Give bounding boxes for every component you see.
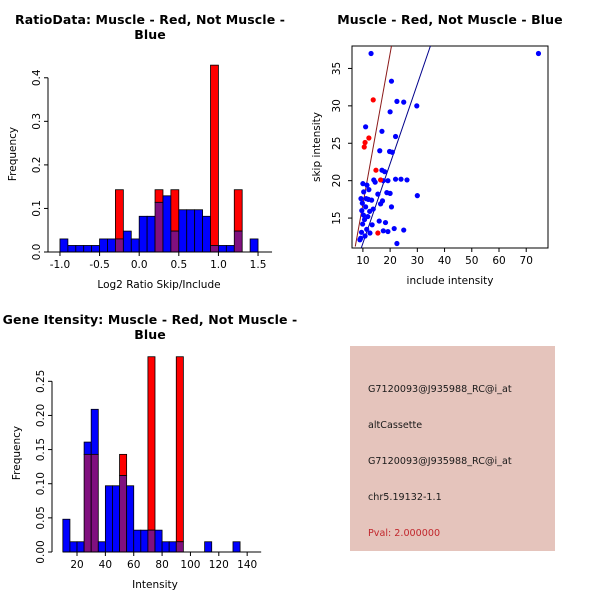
histogram-bar [108,239,116,252]
histogram-bar [112,486,119,552]
scatter-point [375,192,380,197]
ratio-panel-title: RatioData: Muscle - Red, Not Muscle - Bl… [0,12,300,42]
y-tick-label: 20 [331,174,343,187]
scatter-point [394,99,399,104]
y-tick-label: 30 [331,99,343,112]
histogram-bar [120,476,127,552]
histogram-bar [171,190,179,231]
histogram-bar [163,196,171,252]
x-tick-label: 120 [209,559,229,571]
scatter-point [379,129,384,134]
x-tick-label: 10 [356,255,369,267]
x-tick-label: 0.0 [131,259,148,271]
scatter-point [362,217,367,222]
scatter-point [368,51,373,56]
gene-panel-title: Gene Itensity: Muscle - Red, Not Muscle … [0,312,300,342]
scatter-plot: 102030405060701520253035include intensit… [300,0,600,300]
y-tick-label: 25 [331,137,343,150]
x-tick-label: 40 [99,559,112,571]
fit-line-muscle-fit [355,46,391,247]
histogram-bar [148,530,155,552]
histogram-bar [141,530,148,552]
scatter-point [362,140,367,145]
y-tick-label: 35 [331,62,343,75]
y-tick-label: 15 [331,211,343,224]
scatter-point [392,226,397,231]
y-tick-label: 0.1 [31,200,43,217]
x-tick-label: 30 [411,255,424,267]
scatter-point [401,227,406,232]
histogram-bar [131,239,139,252]
y-tick-label: 0.10 [35,472,47,495]
x-tick-label: 80 [155,559,168,571]
scatter-point [377,148,382,153]
scatter-point [371,206,376,211]
scatter-point [388,191,393,196]
x-tick-label: 60 [127,559,140,571]
x-tick-label: -1.0 [50,259,71,271]
probe-id-secondary: G7120093@J935988_RC@i_at [368,456,512,467]
histogram-bar [218,245,226,252]
y-tick-label: 0.05 [35,506,47,529]
scatter-point [381,228,386,233]
x-tick-label: 40 [438,255,451,267]
x-tick-label: 50 [465,255,478,267]
x-tick-label: 140 [237,559,257,571]
fit-line-not-muscle-fit [361,46,430,248]
scatter-point [378,177,383,182]
histogram-bar [139,216,147,252]
histogram-bar [91,409,98,454]
x-tick-label: 100 [180,559,200,571]
scatter-point [390,150,395,155]
y-tick-label: 0.00 [35,540,47,563]
histogram-bar [226,245,234,252]
histogram-bar [155,530,162,552]
histogram-bar [91,454,98,552]
scatter-point [388,109,393,114]
probe-id-primary: G7120093@J935988_RC@i_at [368,384,512,395]
histogram-bar [68,245,76,252]
scatter-point [367,230,372,235]
histogram-bar [155,202,163,252]
y-axis-title: Frequency [7,127,19,181]
scatter-point [401,100,406,105]
histogram-bar [205,542,212,552]
histogram-bar [211,65,219,245]
y-tick-label: 0.3 [31,113,43,130]
histogram-bar [115,190,123,239]
x-tick-label: 20 [70,559,83,571]
histogram-bar [84,442,91,454]
scatter-point [398,177,403,182]
panel-ratio-histogram: RatioData: Muscle - Red, Not Muscle - Bl… [0,0,300,300]
histogram-bars [60,65,258,252]
histogram-bar [162,542,169,552]
scatter-point [389,79,394,84]
histogram-bar [176,357,183,542]
y-tick-label: 0.15 [35,438,47,461]
scatter-point [366,135,371,140]
histogram-bar [63,519,70,552]
scatter-point [357,237,362,242]
histogram-bar [155,190,163,203]
x-tick-label: 60 [492,255,505,267]
pvalue: Pval: 2.000000 [368,528,440,539]
histogram-bar [176,542,183,552]
histogram-bar [250,239,258,252]
histogram-bar [211,245,219,252]
scatter-panel-title: Muscle - Red, Not Muscle - Blue [300,12,600,27]
histogram-bar [115,239,123,252]
y-tick-label: 0.20 [35,404,47,427]
x-tick-label: 1.0 [210,259,227,271]
histogram-bar [187,210,195,252]
scatter-point [358,196,363,201]
histogram-bar [84,245,92,252]
x-axis-title: Intensity [132,579,178,591]
scatter-point [361,189,366,194]
scatter-point [414,103,419,108]
scatter-point [369,198,374,203]
y-axis-title: skip intensity [311,112,323,182]
scatter-point [370,222,375,227]
histogram-bar [169,542,176,552]
scatter-point [536,51,541,56]
genomic-location: chr5.19132-1.1 [368,492,442,503]
scatter-point [363,204,368,209]
gene-histogram-plot: 204060801001201400.000.050.100.150.200.2… [0,300,300,600]
histogram-bar [98,542,105,552]
scatter-point [375,230,380,235]
scatter-point [359,208,364,213]
scatter-point [371,177,376,182]
scatter-point [393,134,398,139]
y-axis-title: Frequency [11,426,23,480]
scatter-point [394,241,399,246]
x-tick-label: -0.5 [89,259,110,271]
histogram-bar [105,486,112,552]
panel-intensity-scatter: Muscle - Red, Not Muscle - Blue 10203040… [300,0,600,300]
probe-info-box: G7120093@J935988_RC@i_ataltCassetteG7120… [350,346,555,551]
scatter-point [362,144,367,149]
scatter-point [371,97,376,102]
histogram-bar [123,231,131,252]
plot-frame [352,46,548,248]
panel-gene-intensity-histogram: Gene Itensity: Muscle - Red, Not Muscle … [0,300,300,600]
x-tick-label: 1.5 [250,259,267,271]
histogram-bar [100,239,108,252]
histogram-bar [147,216,155,252]
scatter-point [366,187,371,192]
scatter-point [385,229,390,234]
scatter-point [382,169,387,174]
histogram-bar [203,216,211,252]
histogram-bar [120,454,127,475]
histogram-bar [179,210,187,252]
scatter-point [415,193,420,198]
scatter-point [364,183,369,188]
scatter-point [385,178,390,183]
scatter-point [373,168,378,173]
histogram-bar [77,542,84,552]
histogram-bar [127,486,134,552]
y-tick-label: 0.4 [31,69,43,86]
x-axis-title: include intensity [407,275,494,287]
histogram-bar [171,231,179,252]
scatter-point [393,177,398,182]
histogram-bar [92,245,100,252]
histogram-bar [76,245,84,252]
histogram-bar [70,542,77,552]
histogram-bar [233,542,240,552]
histogram-bar [148,357,155,530]
histogram-bar [195,210,203,252]
ratio-histogram-plot: -1.0-0.50.00.51.01.50.00.10.20.30.4Log2 … [0,0,300,300]
y-tick-label: 0.25 [35,370,47,393]
histogram-bars [63,357,240,552]
panel-probe-info: G7120093@J935988_RC@i_ataltCassetteG7120… [300,300,600,600]
scatter-point [360,221,365,226]
histogram-bar [60,239,68,252]
scatter-point [404,177,409,182]
histogram-bar [84,454,91,552]
histogram-bar [234,190,242,231]
y-tick-label: 0.0 [31,244,43,261]
scatter-point [363,124,368,129]
scatter-point [389,204,394,209]
x-tick-label: 20 [383,255,396,267]
histogram-bar [134,530,141,552]
scatter-point [378,201,383,206]
x-tick-label: 0.5 [170,259,187,271]
x-tick-label: 70 [520,255,533,267]
x-axis-title: Log2 Ratio Skip/Include [97,279,220,291]
y-tick-label: 0.2 [31,157,43,174]
event-type: altCassette [368,420,422,431]
histogram-bar [234,231,242,252]
scatter-point [377,218,382,223]
scatter-point [383,220,388,225]
